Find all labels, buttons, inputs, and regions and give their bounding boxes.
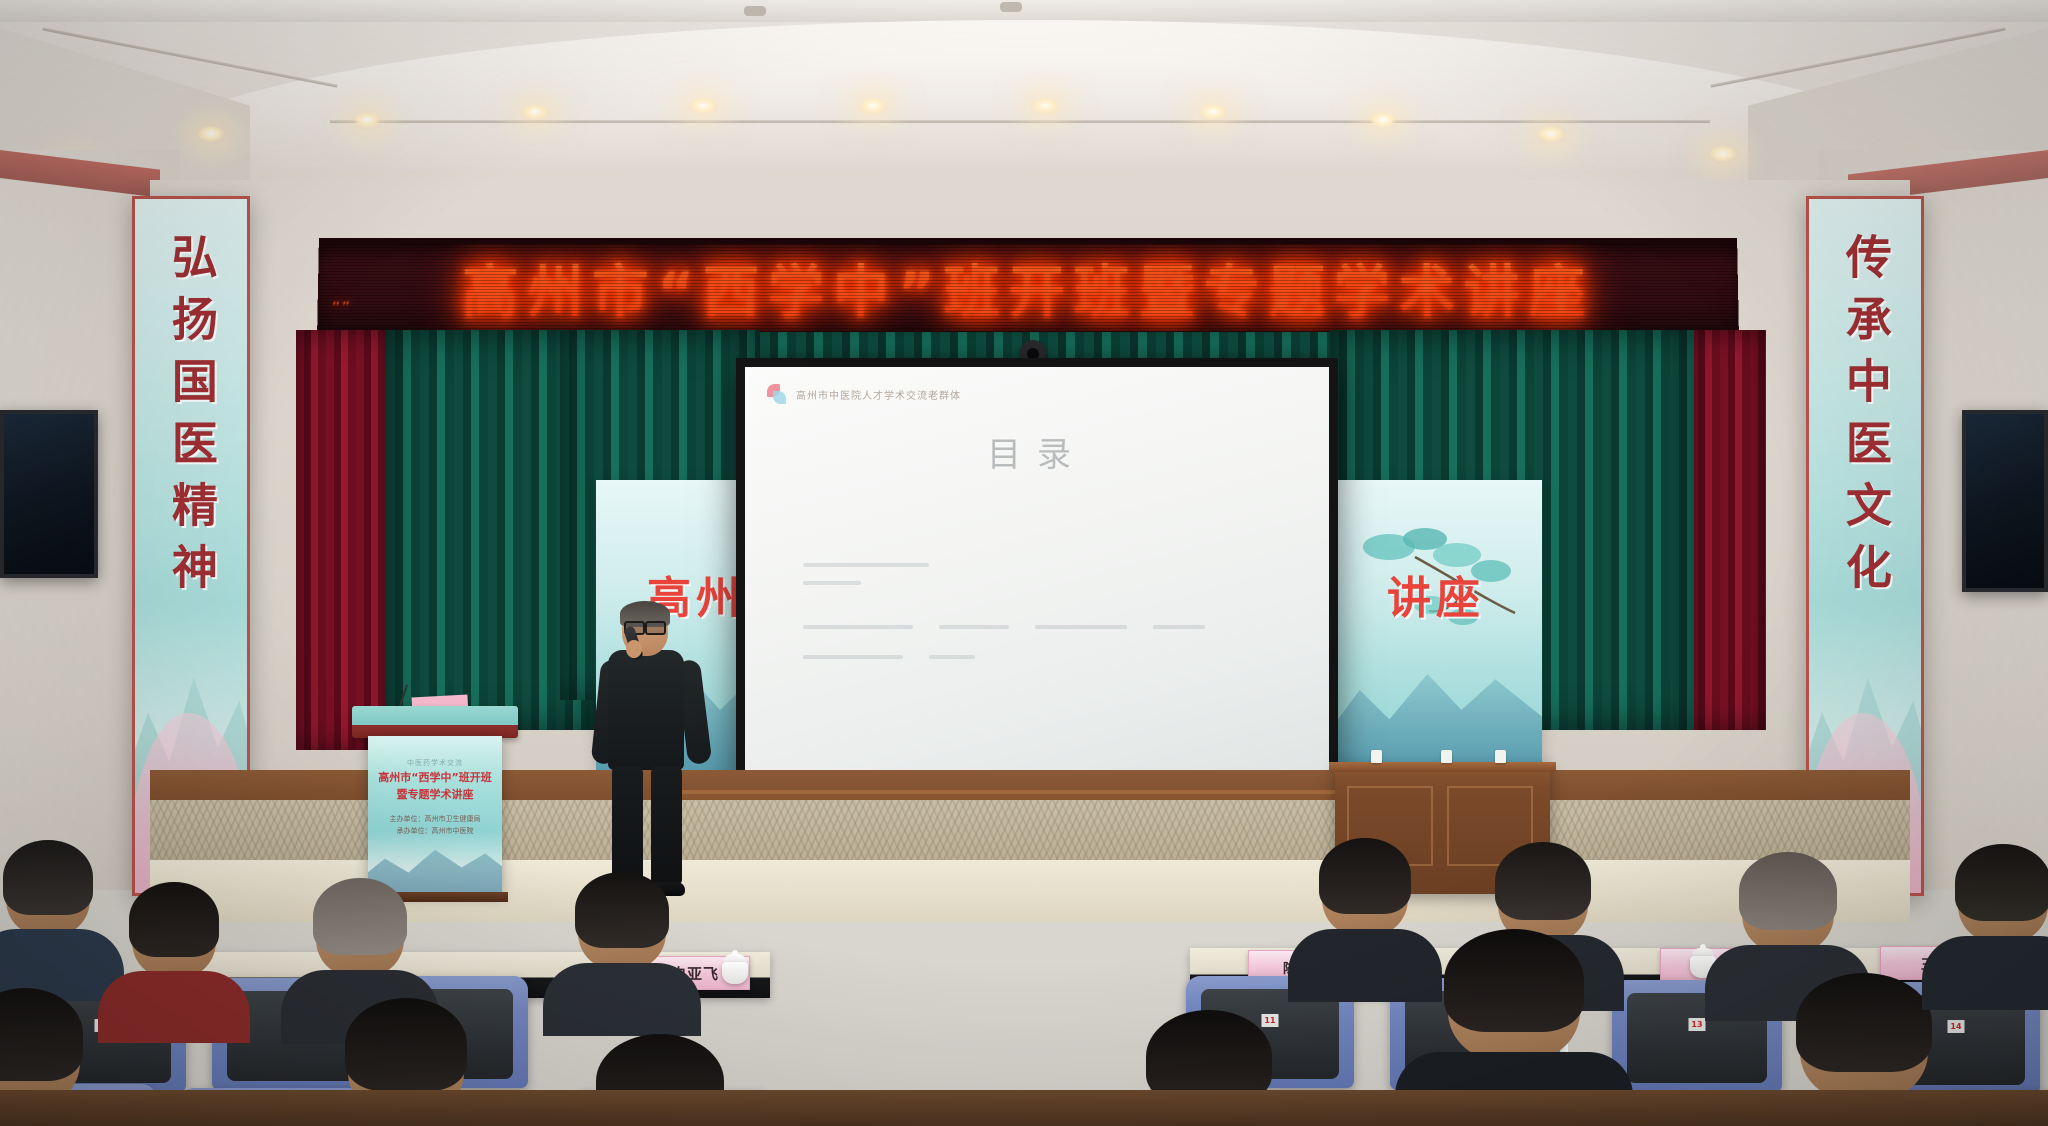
person-shoulders: [98, 971, 249, 1043]
podium-main-title: 高州市“西学中”班开班 暨专题学术讲座: [368, 770, 502, 803]
slide-logo: 高州市中医院人才学术交流老群体: [767, 383, 961, 405]
slide-bullet-row: [803, 625, 1279, 659]
side-monitor-left: [0, 410, 98, 578]
person-hair: [1796, 973, 1932, 1072]
head-table-top: [1329, 762, 1556, 772]
seat-number: 13: [1689, 1018, 1706, 1031]
person-hair: [313, 878, 406, 955]
podium-top-surface: [352, 706, 518, 738]
backdrop-mountain-right: [1330, 637, 1542, 770]
podium-subtitle-line: 中医药学术交流: [368, 758, 502, 768]
downlight-7: [1030, 98, 1060, 115]
audience-person-2: [132, 892, 216, 1012]
person-shoulders: [1288, 929, 1443, 1002]
slide-organization-text: 高州市中医院人才学术交流老群体: [796, 387, 961, 402]
audience-person-10: [1742, 862, 1834, 988]
teacup-1: [722, 954, 748, 984]
stage-backdrop-right: 讲座: [1330, 480, 1542, 770]
backdrop-text-right: 讲座: [1330, 562, 1542, 626]
slide-toc-line: [803, 581, 861, 585]
person-hair: [1955, 844, 2048, 921]
audience-person-3: [316, 888, 404, 1012]
slide-bullet: [803, 655, 903, 659]
seat-number: 14: [1948, 1020, 1965, 1033]
downlight-9: [1368, 112, 1398, 129]
downlight-5: [688, 98, 718, 115]
curtain-red-right: [1690, 330, 1766, 730]
slide-bullet: [1035, 625, 1127, 629]
person-hair: [129, 882, 218, 956]
teacup-knob: [1700, 944, 1706, 950]
downlight-11: [1708, 146, 1738, 163]
person-hair: [575, 872, 668, 948]
led-corner-mark: “”: [331, 299, 351, 319]
slide-title: 目录: [745, 427, 1329, 476]
downlight-8: [1198, 104, 1228, 121]
side-monitor-left-screen: [4, 414, 94, 574]
auditorium-floor: [0, 1090, 2048, 1126]
audience-person-6: [578, 882, 666, 1004]
podium-organizer-line: 主办单位：高州市卫生健康局 承办单位：高州市中医院: [368, 814, 502, 838]
vertical-banner-right-text: 传承中医文化: [1840, 233, 1890, 605]
slide-bullet: [939, 625, 1009, 629]
vertical-banner-left-text: 弘扬国医精神: [166, 233, 216, 605]
slide-bullet: [929, 655, 975, 659]
led-marquee-banner: “” 高州市“西学中”班开班暨专题学术讲座: [317, 238, 1739, 336]
person-hair: [1739, 852, 1837, 930]
audience-area: 史亚飞 陈志雄 李国斌 王明 8: [0, 860, 2048, 1126]
head-table-cup: [1495, 750, 1506, 763]
ceiling-arch: [120, 20, 1940, 170]
ceiling-speaker-right: [1000, 2, 1022, 12]
side-monitor-right-screen: [1966, 414, 2044, 588]
slide-toc-lines: [803, 563, 1289, 599]
person-hair: [0, 988, 83, 1081]
speaker-person: [590, 604, 710, 898]
projection-screen: 高州市中医院人才学术交流老群体 目录: [736, 358, 1338, 798]
person-shoulders: [543, 963, 701, 1036]
person-hair: [1495, 842, 1590, 920]
person-hair: [1319, 838, 1410, 914]
ceiling: [0, 0, 2048, 205]
person-hair: [345, 998, 468, 1091]
person-shoulders: [1922, 936, 2048, 1010]
teacup-knob: [732, 950, 738, 956]
slide-logo-mark-icon: [767, 383, 789, 405]
audience-person-1: [6, 850, 90, 970]
audience-person-7: [1322, 848, 1408, 970]
audience-person-12: [1958, 854, 2048, 978]
auditorium-photo: 弘扬国医精神 传承中医文化 “” 高州市“西学中”班开班暨专题学术讲座 高州: [0, 0, 2048, 1126]
speaker-hand: [626, 640, 642, 658]
audience-person-9: [1448, 942, 1580, 1108]
side-monitor-right: [1962, 410, 2048, 592]
ceiling-speaker-left: [744, 6, 766, 16]
ceiling-front-beam: [0, 0, 2048, 22]
slide-bullet: [803, 625, 913, 629]
speaker-torso: [608, 650, 684, 770]
curtain-red-left: [296, 330, 392, 750]
projection-screen-surface: 高州市中医院人才学术交流老群体 目录: [745, 367, 1329, 789]
head-table-cup: [1441, 750, 1452, 763]
downlight-2: [196, 126, 226, 143]
slide-toc-line: [803, 563, 929, 567]
slide-bullet: [1153, 625, 1205, 629]
downlight-10: [1536, 126, 1566, 143]
person-hair: [3, 840, 92, 914]
head-table-cup: [1371, 750, 1382, 763]
downlight-3: [352, 112, 382, 129]
downlight-4: [520, 104, 550, 121]
person-hair: [1444, 929, 1584, 1032]
led-banner-text: 高州市“西学中”班开班暨专题学术讲座: [462, 247, 1595, 328]
teacup-body: [722, 962, 748, 984]
downlight-6: [858, 98, 888, 115]
